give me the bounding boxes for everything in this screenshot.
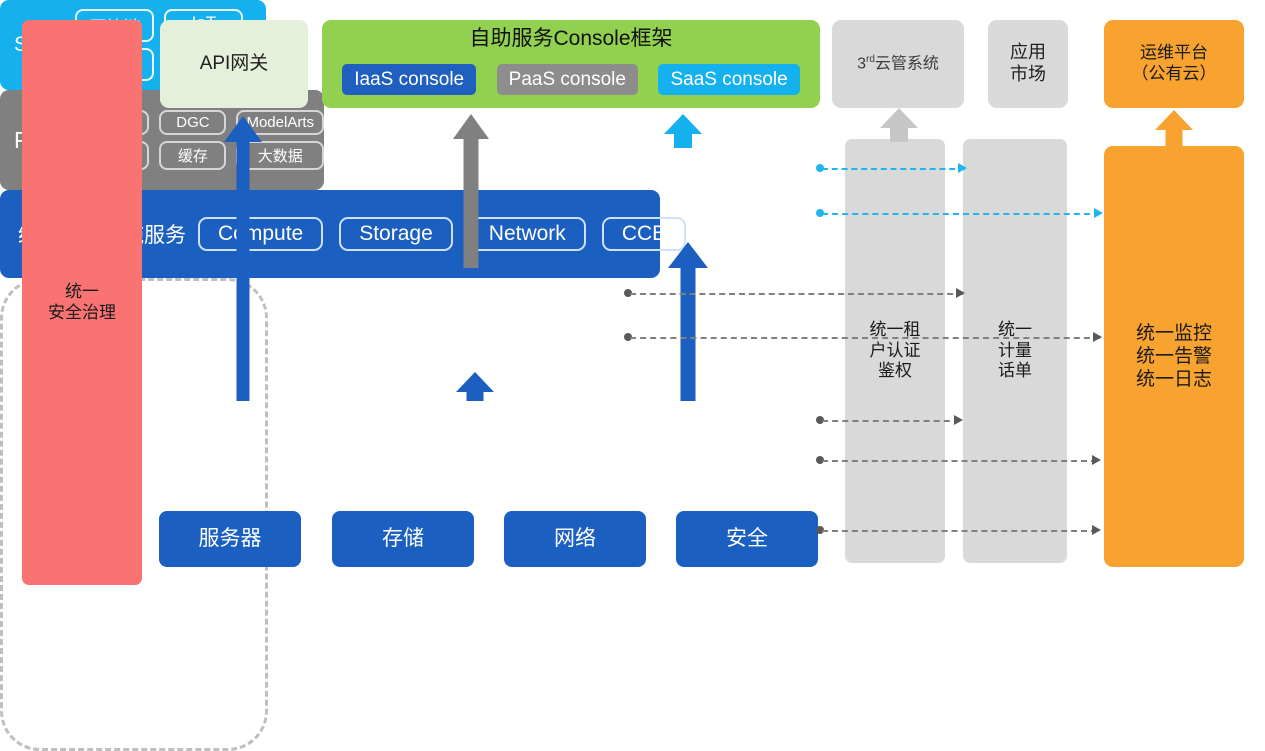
- hardware-storage-box: 存储: [332, 511, 474, 567]
- architecture-diagram: 统一 安全治理 API网关 自助服务Console框架 IaaS console…: [0, 0, 1265, 605]
- unified-tenant-auth-column: 统一租 户认证 鉴权: [845, 139, 945, 563]
- hardware-security-box: 安全: [676, 511, 818, 567]
- ops-panel-line-2: 统一告警: [1136, 345, 1212, 368]
- arrow-ops-panel-to-header: [1155, 110, 1193, 148]
- connector-infra-to-metering: [822, 420, 960, 422]
- auth-line-3: 鉴权: [870, 361, 921, 382]
- metering-line-3: 话单: [998, 361, 1032, 382]
- third-party-suffix: 云管系统: [875, 55, 939, 72]
- console-chip-row: IaaS console PaaS console SaaS console: [322, 64, 820, 95]
- saas-console-chip[interactable]: SaaS console: [658, 64, 799, 95]
- hardware-server-box: 服务器: [159, 511, 301, 567]
- connector-arrowhead-infra-to-metering: [954, 415, 963, 425]
- connector-arrowhead-paas-to-metering: [956, 288, 965, 298]
- ops-platform-header-box: 运维平台 （公有云）: [1104, 20, 1244, 108]
- paas-item-dgc[interactable]: DGC: [159, 110, 226, 135]
- app-market-line-1: 应用: [1010, 42, 1046, 64]
- connector-infra-to-ops: [822, 460, 1097, 462]
- governance-line-2: 安全治理: [48, 303, 116, 324]
- auth-line-2: 户认证: [870, 341, 921, 362]
- connector-saas-to-ops: [822, 213, 1100, 215]
- metering-line-2: 计量: [998, 341, 1032, 362]
- hardware-network-box: 网络: [504, 511, 646, 567]
- unified-security-governance-panel: 统一 安全治理: [22, 20, 142, 585]
- iaas-console-chip[interactable]: IaaS console: [342, 64, 476, 95]
- connector-saas-to-metering: [822, 168, 965, 170]
- arrow-saas-to-console: [664, 114, 702, 148]
- arrow-shared-to-third-party: [880, 108, 918, 142]
- connector-arrowhead-hardware-to-ops: [1092, 525, 1101, 535]
- self-service-console-frame: 自助服务Console框架 IaaS console PaaS console …: [322, 20, 820, 108]
- unified-metering-column: 统一 计量 话单: [963, 139, 1067, 563]
- arrow-infra-to-saas: [668, 242, 708, 401]
- arrow-infra-to-api-gateway: [224, 116, 262, 401]
- connector-arrowhead-saas-to-ops: [1094, 208, 1103, 218]
- infrastructure-chip-row: Compute Storage Network CCE: [198, 217, 686, 251]
- connector-hardware-to-ops: [822, 530, 1097, 532]
- connector-arrowhead-paas-to-ops: [1093, 332, 1102, 342]
- api-gateway-box: API网关: [160, 20, 308, 108]
- ops-header-line-1: 运维平台: [1132, 43, 1217, 64]
- infra-item-storage[interactable]: Storage: [339, 217, 453, 251]
- connector-paas-to-metering: [630, 293, 963, 295]
- arrow-infra-to-paas: [456, 372, 494, 401]
- app-market-line-2: 市场: [1010, 64, 1046, 86]
- arrow-paas-to-console: [453, 114, 489, 268]
- connector-arrowhead-infra-to-ops: [1092, 455, 1101, 465]
- connector-arrowhead-saas-to-metering: [958, 163, 967, 173]
- ops-header-line-2: （公有云）: [1132, 64, 1217, 85]
- governance-line-1: 统一: [48, 282, 116, 303]
- third-party-sup: rd: [866, 54, 875, 65]
- paas-console-chip[interactable]: PaaS console: [497, 64, 638, 95]
- third-party-prefix: 3: [857, 55, 866, 72]
- app-market-box: 应用 市场: [988, 20, 1068, 108]
- unified-ops-panel: 统一监控 统一告警 统一日志: [1104, 146, 1244, 567]
- paas-item-cache[interactable]: 缓存: [159, 141, 226, 170]
- connector-paas-to-ops: [630, 337, 1100, 339]
- console-frame-title: 自助服务Console框架: [322, 26, 820, 52]
- ops-panel-line-1: 统一监控: [1136, 322, 1212, 345]
- third-party-cloud-mgmt-box: 3rd云管系统: [832, 20, 964, 108]
- ops-panel-line-3: 统一日志: [1136, 368, 1212, 391]
